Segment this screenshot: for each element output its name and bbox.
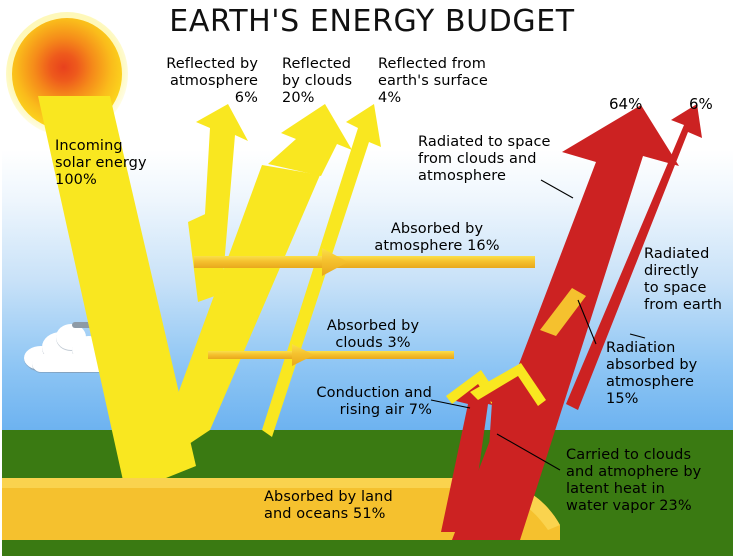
label-latent-heat: Carried to clouds and atmophere by laten… [566, 447, 701, 515]
page-title: EARTH'S ENERGY BUDGET [0, 4, 744, 39]
leader-radiated-directly [630, 334, 645, 338]
arrow-reflected-clouds [268, 104, 352, 176]
label-reflected-surface: Reflected from earth's surface 4% [378, 56, 488, 107]
label-radiated-directly: Radiated directly to space from earth [644, 246, 722, 314]
label-conduction: Conduction and rising air 7% [282, 385, 432, 419]
energy-budget-diagram: EARTH'S ENERGY BUDGET Incoming solar ene… [0, 0, 744, 556]
label-incoming-solar: Incoming solar energy 100% [55, 138, 147, 189]
label-absorbed-atmosphere: Absorbed by atmosphere 16% [352, 221, 522, 255]
label-radiation-absorbed: Radiation absorbed by atmosphere 15% [606, 340, 697, 408]
label-absorbed-clouds: Absorbed by clouds 3% [314, 318, 432, 352]
label-absorbed-land-oceans: Absorbed by land and oceans 51% [264, 489, 393, 523]
label-reflected-atmosphere: Reflected by atmosphere 6% [140, 56, 258, 107]
label-radiated-to-space: Radiated to space from clouds and atmosp… [418, 134, 551, 185]
value-6-percent-right: 6% [689, 95, 713, 113]
value-64-percent: 64% [609, 95, 642, 113]
label-reflected-clouds: Reflected by clouds 20% [282, 56, 352, 107]
